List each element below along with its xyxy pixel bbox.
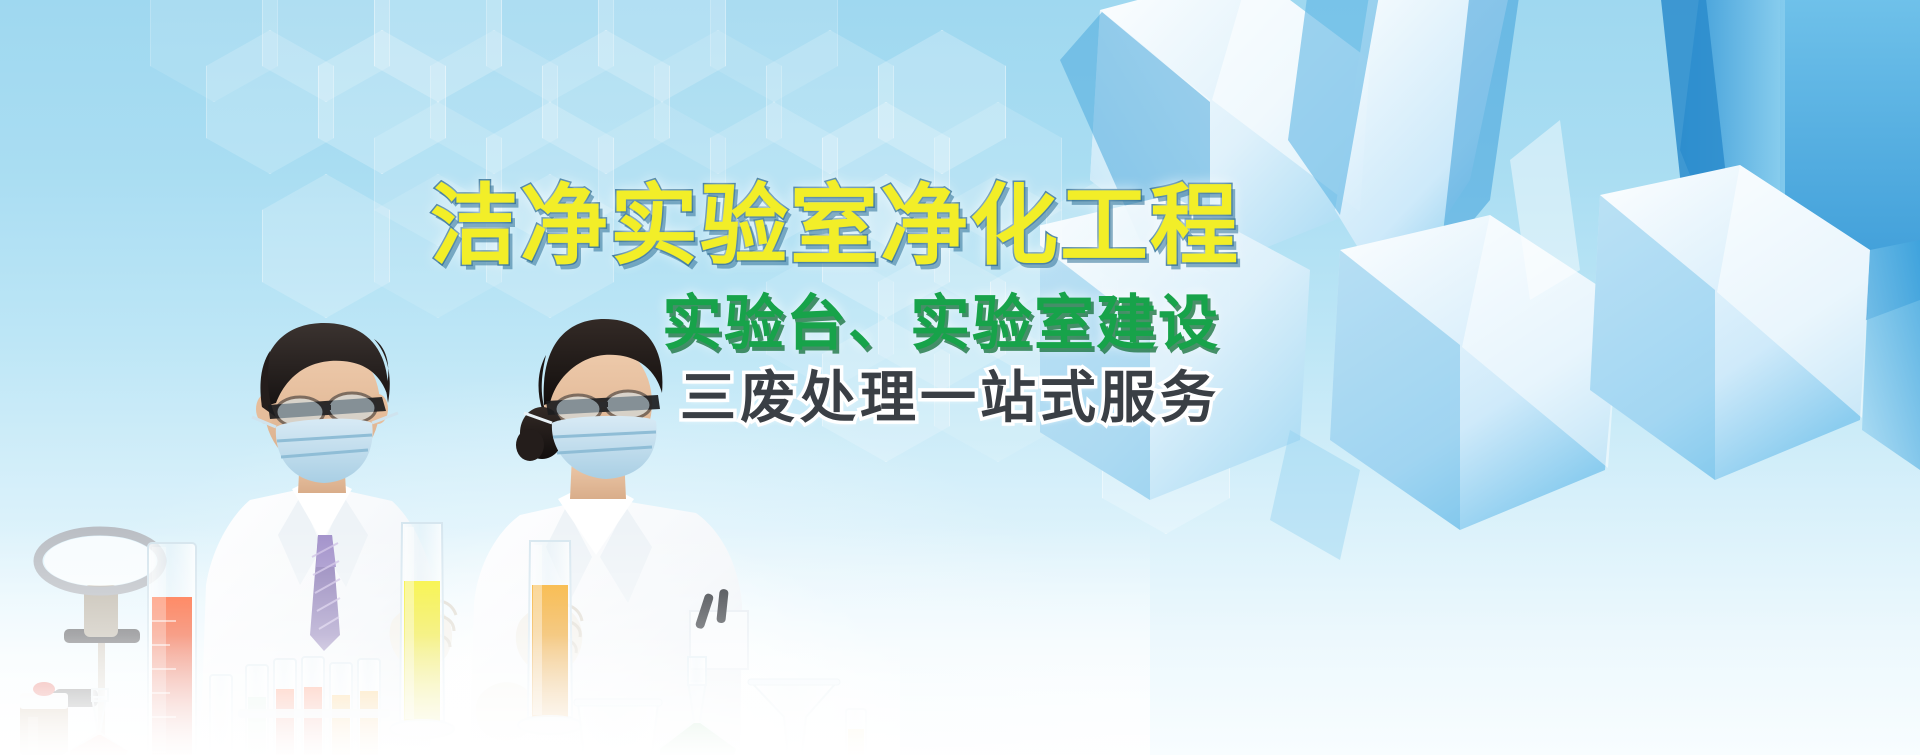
hexagon-tile (206, 30, 334, 174)
hexagon-tile (654, 30, 782, 174)
banner-subheadline: 实验台、实验室建设 (430, 292, 1220, 355)
banner-root: 洁净实验室净化工程 实验台、实验室建设 三废处理一站式服务 (0, 0, 1920, 755)
hexagon-tile (374, 0, 502, 102)
hexagon-tile (766, 30, 894, 174)
hexagon-tile (430, 30, 558, 174)
banner-copy: 洁净实验室净化工程 实验台、实验室建设 三废处理一站式服务 (430, 180, 1220, 427)
hexagon-tile (318, 30, 446, 174)
hexagon-tile (486, 0, 614, 102)
hexagon-tile (262, 0, 390, 102)
hexagon-tile (150, 0, 278, 102)
hexagon-tile (262, 174, 390, 318)
banner-tagline: 三废处理一站式服务 (430, 369, 1220, 428)
bottom-haze (0, 525, 1150, 755)
hexagon-tile (878, 30, 1006, 174)
page-title: 洁净实验室净化工程 (430, 180, 1220, 272)
hexagon-tile (542, 30, 670, 174)
hexagon-tile (598, 0, 726, 102)
hexagon-tile (710, 0, 838, 102)
